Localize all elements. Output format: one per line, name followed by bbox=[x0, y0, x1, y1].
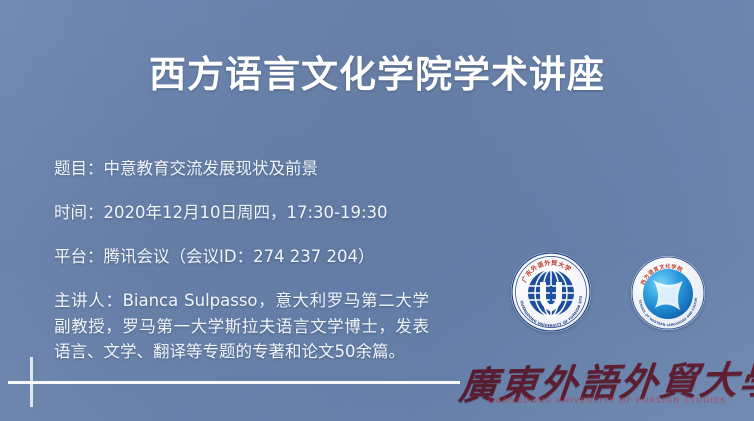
platform-line: 平台：腾讯会议（会议ID：274 237 204） bbox=[54, 244, 524, 269]
wordmark-english: GUANGDONG UNIVERSITY OF FOREIGN STUDIES bbox=[462, 396, 752, 405]
time-line: 时间：2020年12月10日周四，17:30-19:30 bbox=[54, 200, 524, 225]
lecture-poster: 西方语言文化学院学术讲座 题目：中意教育交流发展现状及前景 时间：2020年12… bbox=[0, 0, 754, 421]
school-emblem-icon: 西方语言文化学院 SCHOOL OF WESTERN LANGUAGES AND… bbox=[631, 256, 705, 330]
page-title: 西方语言文化学院学术讲座 bbox=[0, 52, 754, 98]
sphere-swoosh-icon: 西方语言文化学院 SCHOOL OF WESTERN LANGUAGES AND… bbox=[631, 256, 705, 330]
lecture-details: 题目：中意教育交流发展现状及前景 时间：2020年12月10日周四，17:30-… bbox=[54, 156, 524, 365]
vertical-rule-decoration bbox=[30, 357, 33, 407]
topic-line: 题目：中意教育交流发展现状及前景 bbox=[54, 156, 524, 181]
globe-w-icon: 广东外语外贸大学 GUANGDONG UNIVERSITY OF FOREIGN… bbox=[511, 252, 591, 332]
horizontal-rule-decoration bbox=[8, 381, 460, 384]
university-emblem-icon: 广东外语外贸大学 GUANGDONG UNIVERSITY OF FOREIGN… bbox=[511, 252, 591, 332]
speaker-paragraph: 主讲人：Bianca Sulpasso，意大利罗马第二大学副教授，罗马第一大学斯… bbox=[54, 288, 429, 365]
university-wordmark: 廣東外語外貿大學 GUANGDONG UNIVERSITY OF FOREIGN… bbox=[452, 352, 754, 414]
